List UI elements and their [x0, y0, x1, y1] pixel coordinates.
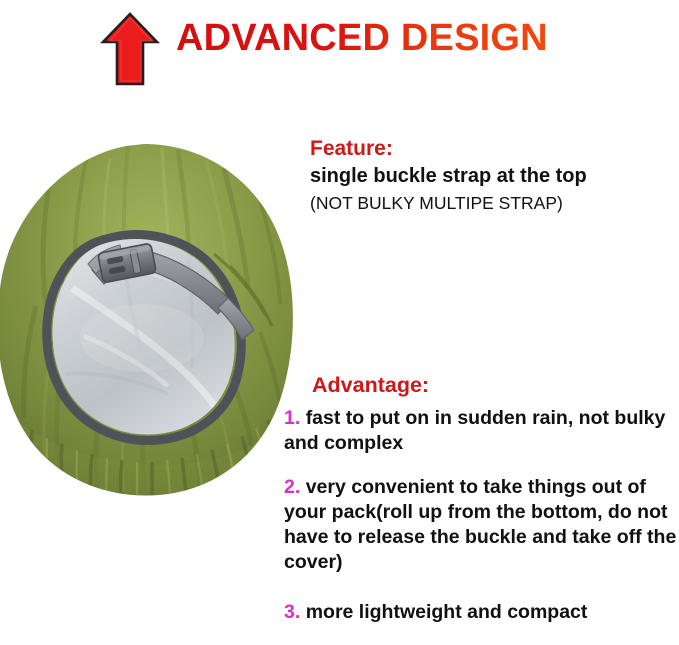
advantage-item-1-number: 1. [284, 407, 300, 429]
advantage-item-3: 3. more lightweight and compact [284, 600, 679, 625]
feature-line-1: single buckle strap at the top [310, 162, 679, 190]
advantage-item-1-text: fast to put on in sudden rain, not bulky… [284, 407, 665, 454]
advantage-item-2-text: very convenient to take things out of yo… [284, 476, 676, 573]
text-column: Feature: single buckle strap at the top … [282, 136, 679, 645]
header-banner: ADVANCED DESIGN [0, 0, 679, 100]
page-title: ADVANCED DESIGN [176, 17, 548, 60]
advantage-item-1: 1. fast to put on in sudden rain, not bu… [284, 406, 679, 456]
product-infographic: ADVANCED DESIGN [0, 0, 679, 645]
advantage-block: Advantage: 1. fast to put on in sudden r… [282, 372, 679, 625]
up-arrow-icon [100, 11, 160, 87]
product-photo-rain-cover [0, 138, 304, 504]
rain-cover-illustration [0, 138, 304, 504]
advantage-heading: Advantage: [312, 372, 679, 398]
advantage-item-3-text: more lightweight and compact [306, 601, 588, 623]
advantage-item-3-number: 3. [284, 601, 300, 623]
feature-line-2: (NOT BULKY MULTIPE STRAP) [310, 190, 679, 217]
feature-heading: Feature: [310, 136, 679, 162]
advantage-item-2-number: 2. [284, 476, 300, 498]
advantage-item-2: 2. very convenient to take things out of… [284, 475, 679, 575]
feature-block: Feature: single buckle strap at the top … [282, 136, 679, 217]
